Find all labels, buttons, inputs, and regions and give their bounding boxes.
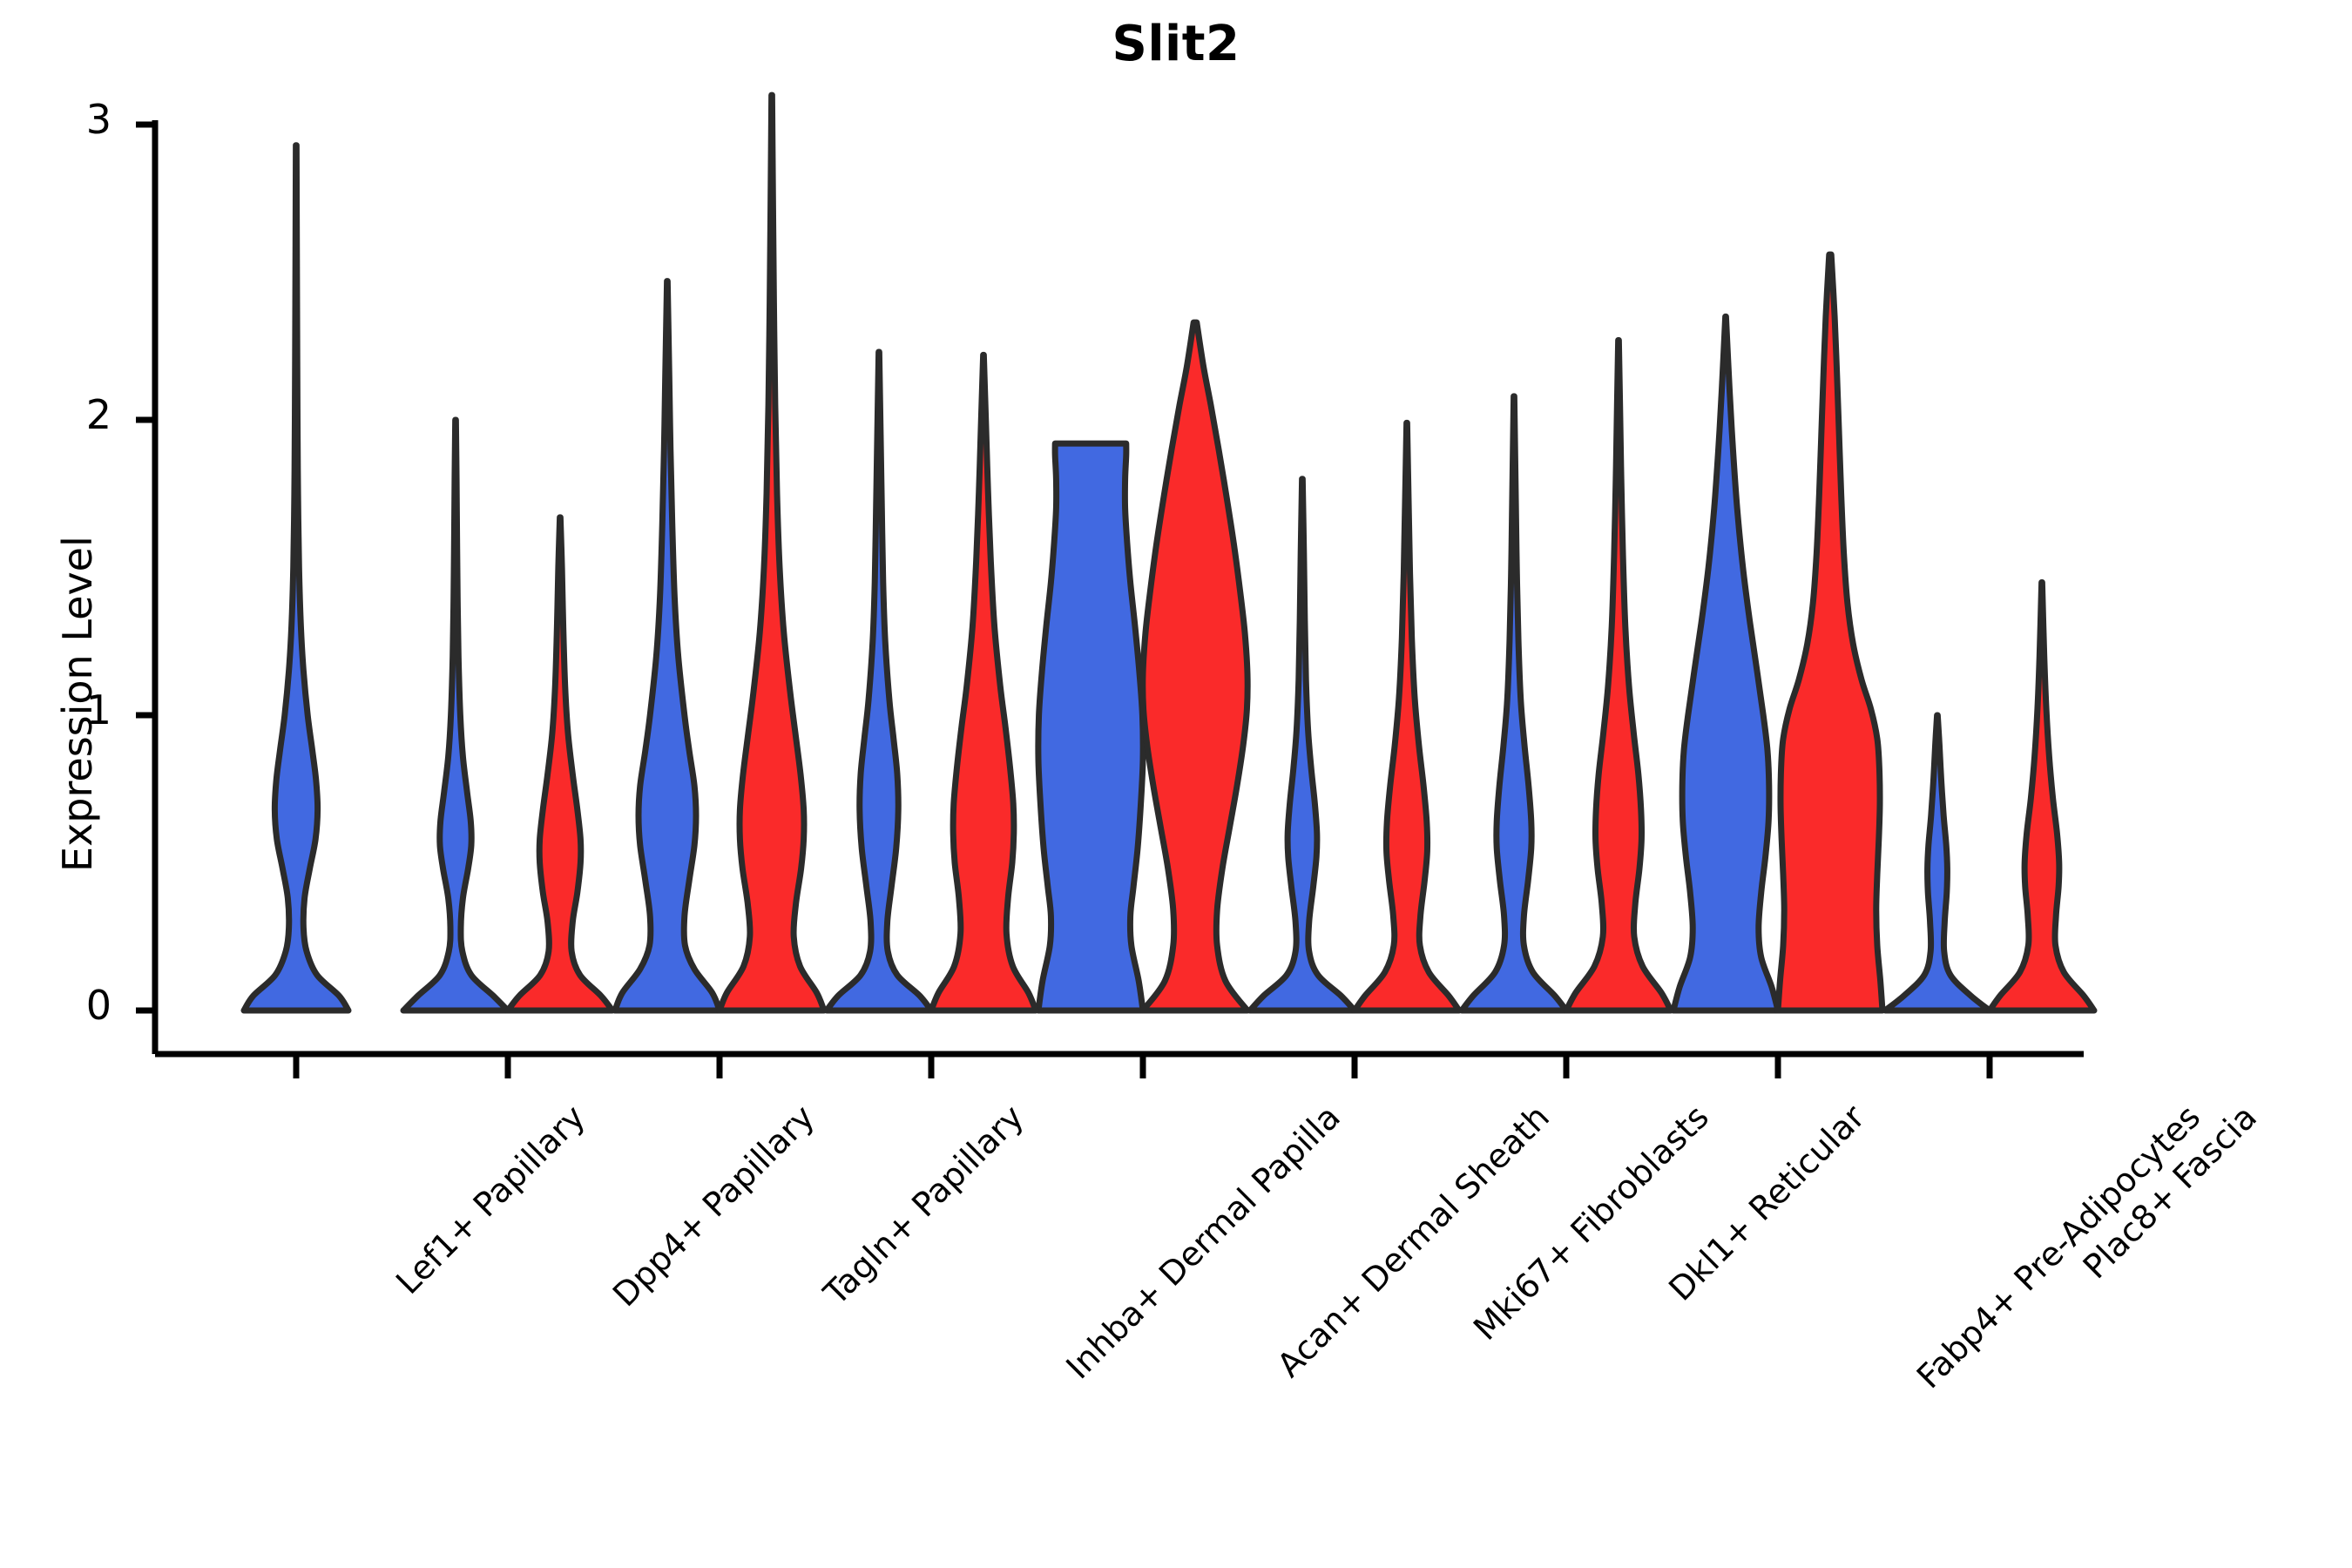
violin-blue-3 (827, 352, 931, 1010)
violin-red-5 (1355, 422, 1459, 1010)
violin-blue-4 (1038, 443, 1143, 1010)
violin-blue-6 (1462, 396, 1566, 1010)
violin-red-1 (508, 517, 612, 1010)
violin-blue-2 (615, 281, 720, 1010)
violin-blue-8 (1885, 715, 1990, 1010)
violins-group (244, 95, 2094, 1010)
violin-plot-canvas (0, 0, 2352, 1568)
violin-blue-5 (1250, 479, 1355, 1010)
violin-red-7 (1778, 254, 1882, 1010)
violin-red-3 (931, 355, 1036, 1010)
violin-blue-1 (403, 420, 508, 1010)
violin-plot-figure: Slit2 Expression Level 0 1 2 3 Lef1+ Pap… (0, 0, 2352, 1568)
violin-blue-0 (244, 145, 348, 1010)
violin-red-8 (1990, 582, 2094, 1010)
violin-blue-7 (1673, 316, 1778, 1010)
violin-red-6 (1566, 340, 1671, 1010)
violin-red-4 (1143, 322, 1247, 1010)
violin-red-2 (720, 95, 824, 1010)
